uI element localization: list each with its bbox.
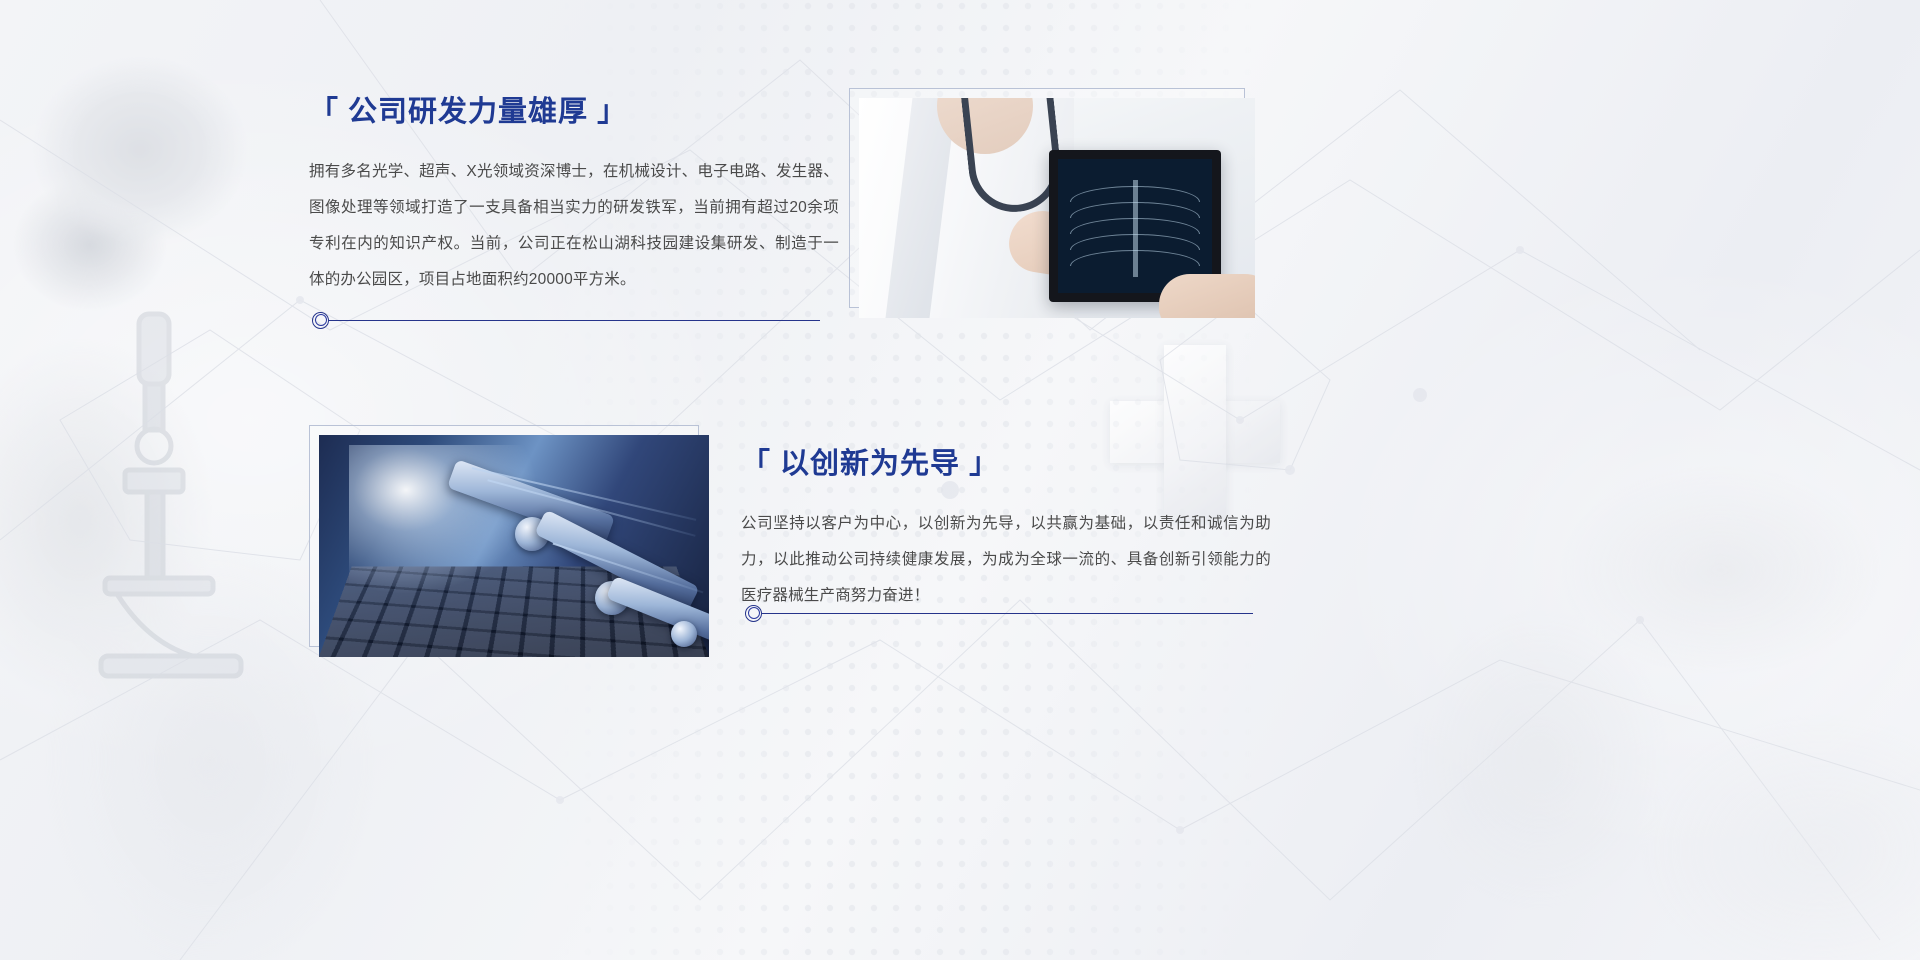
section-paragraph-innovation-led: 公司坚持以客户为中心，以创新为先导，以共赢为基础，以责任和诚信为助力，以此推动公…: [741, 506, 1271, 614]
hand-lower-shape: [1159, 274, 1255, 318]
section-rd-strength: 「 公司研发力量雄厚 」 拥有多名光学、超声、X光领域资深博士，在机械设计、电子…: [309, 88, 839, 298]
photo-doctor-xray: [859, 98, 1255, 318]
divider-rule: [762, 613, 1253, 614]
photo-frame-doctor: [849, 88, 1255, 318]
section-heading-rd-strength: 「 公司研发力量雄厚 」: [309, 88, 839, 130]
divider-ring-icon: [745, 605, 762, 622]
section-paragraph-rd-strength: 拥有多名光学、超声、X光领域资深博士，在机械设计、电子电路、发生器、图像处理等领…: [309, 154, 839, 298]
divider-rd-strength: [312, 311, 820, 329]
divider-ring-icon: [312, 312, 329, 329]
light-flare-shape: [349, 445, 539, 595]
chest-xray-image: [1058, 159, 1212, 293]
photo-robot-keyboard: [319, 435, 709, 657]
page-root: 「 公司研发力量雄厚 」 拥有多名光学、超声、X光领域资深博士，在机械设计、电子…: [0, 0, 1920, 960]
microscope-watermark-icon: [95, 300, 270, 730]
divider-innovation-led: [745, 604, 1253, 622]
section-innovation-led: 「 以创新为先导 」 公司坚持以客户为中心，以创新为先导，以共赢为基础，以责任和…: [741, 440, 1271, 614]
divider-rule: [329, 320, 820, 321]
photo-frame-robot: [309, 425, 709, 657]
section-heading-innovation-led: 「 以创新为先导 」: [741, 440, 1271, 482]
robot-joint: [671, 621, 697, 647]
hands-watermark-icon: [1390, 330, 1920, 960]
